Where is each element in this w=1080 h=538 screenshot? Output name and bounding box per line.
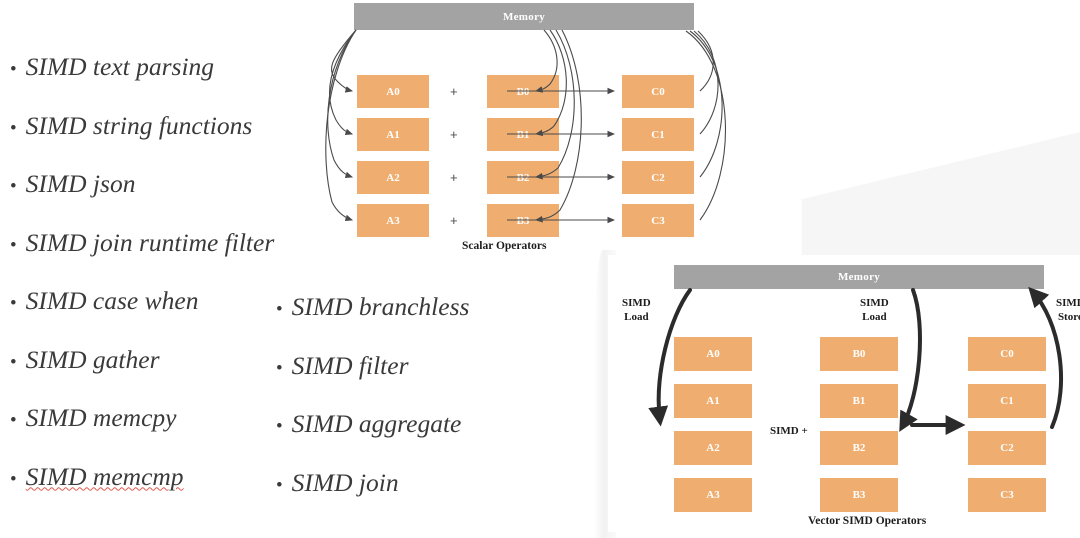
scalar-load-a0-arrow xyxy=(332,30,356,91)
slide-canvas: • SIMD text parsing • SIMD string functi… xyxy=(0,0,1080,538)
vector-memory-bar: Memory xyxy=(674,265,1044,289)
vector-cell-c1: C1 xyxy=(968,384,1046,418)
bullet-dot-icon: • xyxy=(276,417,283,436)
scalar-cell-c0: C0 xyxy=(622,75,694,108)
scalar-load-a2-arrow xyxy=(328,30,356,177)
bullet-dot-icon: • xyxy=(10,236,17,255)
bullet-dot-icon: • xyxy=(276,300,283,319)
simd-store-label: SIMD Store xyxy=(1056,297,1080,325)
scalar-cell-a1: A1 xyxy=(357,118,429,151)
scalar-memory-bar: Memory xyxy=(354,3,694,30)
bullet-text: SIMD text parsing xyxy=(26,54,214,80)
vector-memory-label: Memory xyxy=(838,271,880,283)
simd-plus-label: SIMD + xyxy=(770,425,808,439)
simd-load-label-1: SIMD Load xyxy=(622,297,651,325)
vector-cell-c3: C3 xyxy=(968,478,1046,512)
scalar-store-c1-arrow xyxy=(694,31,718,134)
list-item: • SIMD join runtime filter xyxy=(10,230,274,256)
list-item: • SIMD filter xyxy=(276,353,469,379)
bullet-dot-icon: • xyxy=(10,294,17,313)
bullet-text: SIMD memcpy xyxy=(26,405,177,431)
list-item: • SIMD branchless xyxy=(276,294,469,320)
scalar-cell-a0: A0 xyxy=(357,75,429,108)
bullet-text: SIMD join runtime filter xyxy=(26,230,275,256)
bullet-text: SIMD aggregate xyxy=(292,411,462,437)
list-item: • SIMD gather xyxy=(10,347,274,373)
scalar-cell-c1: C1 xyxy=(622,118,694,151)
scalar-load-a1-arrow xyxy=(330,30,356,134)
vector-cell-b1: B1 xyxy=(820,384,898,418)
list-item: • SIMD memcmp xyxy=(10,464,274,490)
simd-load-label-2: SIMD Load xyxy=(860,297,889,325)
bullet-list-right: • SIMD branchless • SIMD filter • SIMD a… xyxy=(276,294,469,528)
vector-simd-operators-diagram: Memory SIMD Load SIMD Load SIMD Store A0… xyxy=(608,255,1080,538)
scalar-diagram-caption: Scalar Operators xyxy=(462,240,546,252)
vector-diagram-caption: Vector SIMD Operators xyxy=(808,515,926,527)
vector-cell-b2: B2 xyxy=(820,431,898,465)
scalar-store-c2-arrow xyxy=(690,31,722,177)
scalar-plus-2: + xyxy=(450,171,458,184)
list-item: • SIMD join xyxy=(276,470,469,496)
vector-cell-a1: A1 xyxy=(674,384,752,418)
bullet-text: SIMD filter xyxy=(292,353,409,379)
list-item: • SIMD case when xyxy=(10,288,274,314)
vector-cell-a2: A2 xyxy=(674,431,752,465)
list-item: • SIMD string functions xyxy=(10,113,274,139)
vector-cell-c0: C0 xyxy=(968,337,1046,371)
list-item: • SIMD memcpy xyxy=(10,405,274,431)
scalar-cell-a2: A2 xyxy=(357,161,429,194)
scalar-store-c0-arrow xyxy=(698,31,713,91)
scalar-load-a3-arrow xyxy=(326,30,356,220)
vector-cell-a3: A3 xyxy=(674,478,752,512)
bullet-dot-icon: • xyxy=(10,177,17,196)
bullet-dot-icon: • xyxy=(10,60,17,79)
bullet-dot-icon: • xyxy=(10,411,17,430)
bullet-list-left: • SIMD text parsing • SIMD string functi… xyxy=(10,54,274,522)
scalar-cell-b0: B0 xyxy=(487,75,559,108)
scalar-operators-diagram: Memory A0 A1 A2 A3 + + + + B0 B1 B2 B3 C… xyxy=(322,0,722,260)
vector-cell-b3: B3 xyxy=(820,478,898,512)
scalar-plus-1: + xyxy=(450,128,458,141)
bullet-dot-icon: • xyxy=(10,119,17,138)
bullet-text-misspelled: SIMD memcmp xyxy=(26,464,184,490)
scalar-cell-b1: B1 xyxy=(487,118,559,151)
scalar-plus-0: + xyxy=(450,85,458,98)
list-item: • SIMD text parsing xyxy=(10,54,274,80)
scalar-cell-b2: B2 xyxy=(487,161,559,194)
scalar-memory-label: Memory xyxy=(503,11,545,23)
scalar-cell-c2: C2 xyxy=(622,161,694,194)
bullet-dot-icon: • xyxy=(276,359,283,378)
bullet-text: SIMD branchless xyxy=(292,294,470,320)
bullet-text: SIMD json xyxy=(26,171,136,197)
bullet-dot-icon: • xyxy=(10,470,17,489)
bullet-dot-icon: • xyxy=(10,353,17,372)
vector-load-b-arrow xyxy=(902,290,920,427)
bullet-text: SIMD string functions xyxy=(26,113,253,139)
scalar-cell-a3: A3 xyxy=(357,204,429,237)
list-item: • SIMD json xyxy=(10,171,274,197)
bullet-text: SIMD case when xyxy=(26,288,199,314)
vector-cell-b0: B0 xyxy=(820,337,898,371)
bullet-dot-icon: • xyxy=(276,476,283,495)
scalar-plus-3: + xyxy=(450,214,458,227)
bullet-text: SIMD gather xyxy=(26,347,160,373)
bullet-text: SIMD join xyxy=(292,470,399,496)
vector-cell-a0: A0 xyxy=(674,337,752,371)
list-item: • SIMD aggregate xyxy=(276,411,469,437)
vector-cell-c2: C2 xyxy=(968,431,1046,465)
scalar-cell-c3: C3 xyxy=(622,204,694,237)
scalar-cell-b3: B3 xyxy=(487,204,559,237)
